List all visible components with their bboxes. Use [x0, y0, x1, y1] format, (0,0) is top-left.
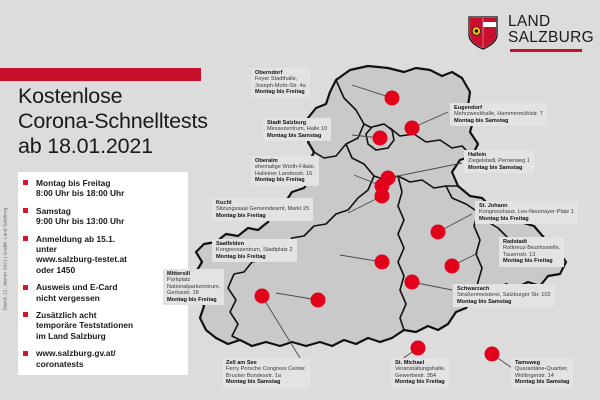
dot-oberndorf [385, 91, 400, 106]
list-item: Montag bis Freitag 8:00 Uhr bis 18:00 Uh… [22, 178, 182, 199]
location-days: Montag bis Samstag [457, 299, 551, 306]
bullet-line-1: Zusätzlich acht [36, 310, 97, 320]
location-days: Montag bis Samstag [226, 379, 306, 386]
bullet-line-2-url[interactable]: coronatests [36, 359, 182, 369]
dot-schwarzach [405, 275, 420, 290]
location-name: Kuchl [216, 200, 309, 207]
bullet-square-icon [23, 180, 28, 185]
location-address-2: Halleiner Landesstr. 16 [255, 171, 315, 178]
location-days: Montag bis Freitag [479, 216, 574, 223]
dot-radstadt [445, 259, 460, 274]
location-days: Montag bis Freitag [216, 254, 293, 261]
dot-zell-am-see [255, 289, 270, 304]
bullet-line-1: Montag bis Freitag [36, 178, 110, 188]
location-name: Eugendorf [454, 105, 543, 112]
dot-mittersill [311, 293, 326, 308]
location-name: Schwarzach [457, 286, 551, 293]
location-address: Kongresshaus, Leo-Neumayer-Platz 1 [479, 209, 574, 216]
logo-underline [510, 49, 582, 52]
map-label-st-johann: St. Johann Kongresshaus, Leo-Neumayer-Pl… [475, 201, 578, 224]
bullet-line-2: 8:00 Uhr bis 18:00 Uhr [36, 188, 182, 198]
salzburg-coat-of-arms-icon [466, 14, 500, 52]
bullet-line-2: 9:00 Uhr bis 13:00 Uhr [36, 216, 182, 226]
map-label-hallein: Hallein Ziegelstadl, Pernerweg 1 Montag … [464, 150, 534, 173]
location-name: Mittersill [167, 271, 220, 278]
location-address: Ziegelstadl, Pernerweg 1 [468, 158, 530, 165]
map-label-radstadt: Radstadt Rotkreuz-Bezirksstelle, Tauerns… [499, 237, 564, 267]
infographic-page: Stand: 12. Jänner 2021 | Grafik: Land Sa… [0, 0, 600, 400]
location-address-2: Brucker Bundesstr. 1a [226, 373, 306, 380]
bullet-square-icon [23, 285, 28, 290]
location-days: Montag bis Freitag [216, 213, 309, 220]
dot-eugendorf [405, 121, 420, 136]
location-days: Montag bis Freitag [395, 379, 445, 386]
location-address: Sitzungssaal Gemeindeamt, Markt 25 [216, 206, 309, 213]
location-days: Montag bis Samstag [454, 118, 543, 125]
location-name: Saalfelden [216, 241, 293, 248]
location-address: Mehrzweckhalle, Hammermühlstr. 7 [454, 111, 543, 118]
land-salzburg-logo: LAND SALZBURG [466, 14, 584, 52]
dot-st-johann [431, 225, 446, 240]
dot-tamsweg [485, 347, 500, 362]
map-label-saalfelden: Saalfelden Kongresszentrum, Stadtplatz 2… [212, 239, 297, 262]
location-address: Ferry Porsche Congress Center, [226, 366, 306, 373]
location-address: Straßenmeisterei, Salzburger Str. 102 [457, 292, 551, 299]
location-days: Montag bis Freitag [255, 177, 315, 184]
location-address-3: Gerlosstr. 18 [167, 290, 220, 297]
location-name: Stadt Salzburg [267, 120, 327, 127]
location-name: Hallein [468, 152, 530, 159]
bullet-square-icon [23, 312, 28, 317]
map-label-oberndorf: Oberndorf Foyer Stadthalle, Joseph-Mohr-… [251, 68, 310, 98]
location-days: Montag bis Freitag [167, 297, 220, 304]
list-item: Zusätzlich acht temporäre Teststationen … [22, 310, 182, 341]
logo-line-1: LAND [508, 13, 551, 30]
list-item: Ausweis und E-Card nicht vergessen [22, 282, 182, 303]
map-label-zell-am-see: Zell am See Ferry Porsche Congress Cente… [222, 358, 310, 388]
location-address: Veranstaltungshalle, [395, 366, 445, 373]
dot-stadt-salzburg [373, 131, 388, 146]
location-address-2: Gewerbestr. 354 [395, 373, 445, 380]
bullet-line-3: im Land Salzburg [36, 331, 182, 341]
location-address: Kongresszentrum, Stadtplatz 2 [216, 247, 293, 254]
location-address: Parkplatz [167, 277, 220, 284]
bullet-line-1: Anmeldung ab 15.1. [36, 234, 115, 244]
location-address: Rotkreuz-Bezirksstelle, [503, 245, 560, 252]
map-label-st-michael: St. Michael Veranstaltungshalle, Gewerbe… [391, 358, 449, 388]
bullet-line-1: Ausweis und E-Card [36, 282, 117, 292]
map-label-tamsweg: Tamsweg Quarantäne-Quartier, Wöltingerst… [511, 358, 573, 388]
location-address: Messezentrum, Halle 10 [267, 126, 327, 133]
list-item: www.salzburg.gv.at/ coronatests [22, 348, 182, 369]
bullet-line-2: temporäre Teststationen [36, 320, 182, 330]
bullet-line-1: Samstag [36, 206, 71, 216]
bullet-line-2: unter [36, 244, 182, 254]
map-label-kuchl: Kuchl Sitzungssaal Gemeindeamt, Markt 25… [212, 198, 313, 221]
location-name: Tamsweg [515, 360, 569, 367]
location-name: Oberalm [255, 158, 315, 165]
map-label-mittersill: Mittersill Parkplatz Nationalparkzentrum… [163, 269, 224, 305]
bullet-square-icon [23, 351, 28, 356]
location-days: Montag bis Samstag [468, 165, 530, 172]
location-days: Montag bis Freitag [503, 258, 560, 265]
logo-line-2: SALZBURG [508, 30, 594, 46]
location-address: Quarantäne-Quartier, [515, 366, 569, 373]
bullet-square-icon [23, 236, 28, 241]
list-item: Anmeldung ab 15.1. unter www.salzburg-te… [22, 234, 182, 276]
location-address-2: Tauernstr. 13 [503, 252, 560, 259]
map-label-schwarzach: Schwarzach Straßenmeisterei, Salzburger … [453, 284, 555, 307]
red-accent-bar [0, 68, 201, 81]
list-item: Samstag 9:00 Uhr bis 13:00 Uhr [22, 206, 182, 227]
location-address: ehemalige Würth-Filiale, [255, 164, 315, 171]
location-address-2: Joseph-Mohr-Str. 4a [255, 83, 306, 90]
title-line-3: ab 18.01.2021 [18, 134, 233, 159]
dot-hallein [381, 171, 396, 186]
dot-kuchl [375, 189, 390, 204]
bullet-line-3-url[interactable]: www.salzburg-testet.at [36, 254, 182, 264]
bullet-line-2: nicht vergessen [36, 293, 182, 303]
dot-st-michael [411, 341, 426, 356]
map-label-oberalm: Oberalm ehemalige Würth-Filiale, Hallein… [251, 156, 319, 186]
title-line-1: Kostenlose [18, 84, 233, 109]
location-name: St. Johann [479, 203, 574, 210]
location-name: Radstadt [503, 239, 560, 246]
dot-saalfelden [375, 255, 390, 270]
map-label-eugendorf: Eugendorf Mehrzweckhalle, Hammermühlstr.… [450, 103, 547, 126]
location-days: Montag bis Samstag [515, 379, 569, 386]
location-days: Montag bis Freitag [255, 89, 306, 96]
location-name: Zell am See [226, 360, 306, 367]
bullet-square-icon [23, 208, 28, 213]
location-name: St. Michael [395, 360, 445, 367]
location-days: Montag bis Samstag [267, 133, 327, 140]
location-name: Oberndorf [255, 70, 306, 77]
location-address-2: Wöltingerstr. 14 [515, 373, 569, 380]
location-address: Foyer Stadthalle, [255, 76, 306, 83]
logo-wordmark: LAND SALZBURG [508, 14, 594, 45]
location-address-2: Nationalparkzentrum, [167, 284, 220, 291]
title-line-2: Corona-Schnelltests [18, 109, 233, 134]
bullet-line-1-url[interactable]: www.salzburg.gv.at/ [36, 348, 116, 358]
page-title: Kostenlose Corona-Schnelltests ab 18.01.… [18, 84, 233, 159]
map-label-stadt-salzburg: Stadt Salzburg Messezentrum, Halle 10 Mo… [263, 118, 331, 141]
bullet-line-4: oder 1450 [36, 265, 182, 275]
